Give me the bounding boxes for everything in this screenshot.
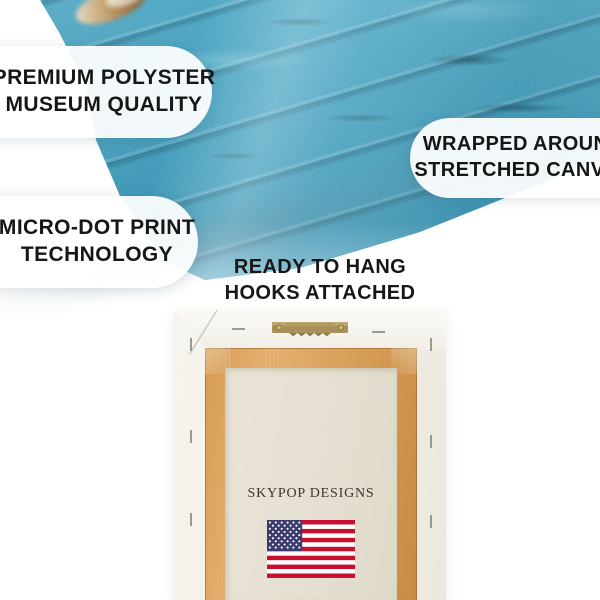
canvas-staple [430,338,432,351]
product-feature-graphic: PREMIUM POLYSTER MUSEUM QUALITY WRAPPED … [0,0,600,600]
feature-line-2: STRETCHED CANVAS [414,158,600,184]
canvas-inner-panel: SKYPOP DESIGNS [225,368,397,600]
feature-line-2: HOOKS ATTACHED [222,280,418,306]
stretched-canvas-product: SKYPOP DESIGNS [174,310,446,600]
us-flag-icon [267,520,355,578]
feature-pill-wrapped-around: WRAPPED AROUND STRETCHED CANVAS [410,118,600,198]
feature-pill-micro-dot: MICRO-DOT PRINT TECHNOLOGY [0,196,198,288]
feature-line-2: MUSEUM QUALITY [6,92,203,119]
canvas-staple [430,515,432,528]
feature-line-2: TECHNOLOGY [21,242,173,269]
feature-pill-premium-polyster: PREMIUM POLYSTER MUSEUM QUALITY [0,46,212,138]
canvas-staple [190,513,192,526]
feature-line-1: WRAPPED AROUND [423,132,600,158]
feature-line-1: MICRO-DOT PRINT [0,215,195,242]
canvas-staple [190,338,192,351]
sawtooth-hanger-icon [272,322,348,337]
feature-line-1: PREMIUM POLYSTER [0,65,215,92]
brand-name: SKYPOP DESIGNS [225,486,397,502]
canvas-staple [232,328,245,330]
feature-label-ready-to-hang: READY TO HANG HOOKS ATTACHED [222,254,418,306]
canvas-staple [372,331,385,333]
feature-line-1: READY TO HANG [222,254,418,280]
canvas-staple [430,435,432,448]
canvas-staple [190,430,192,443]
